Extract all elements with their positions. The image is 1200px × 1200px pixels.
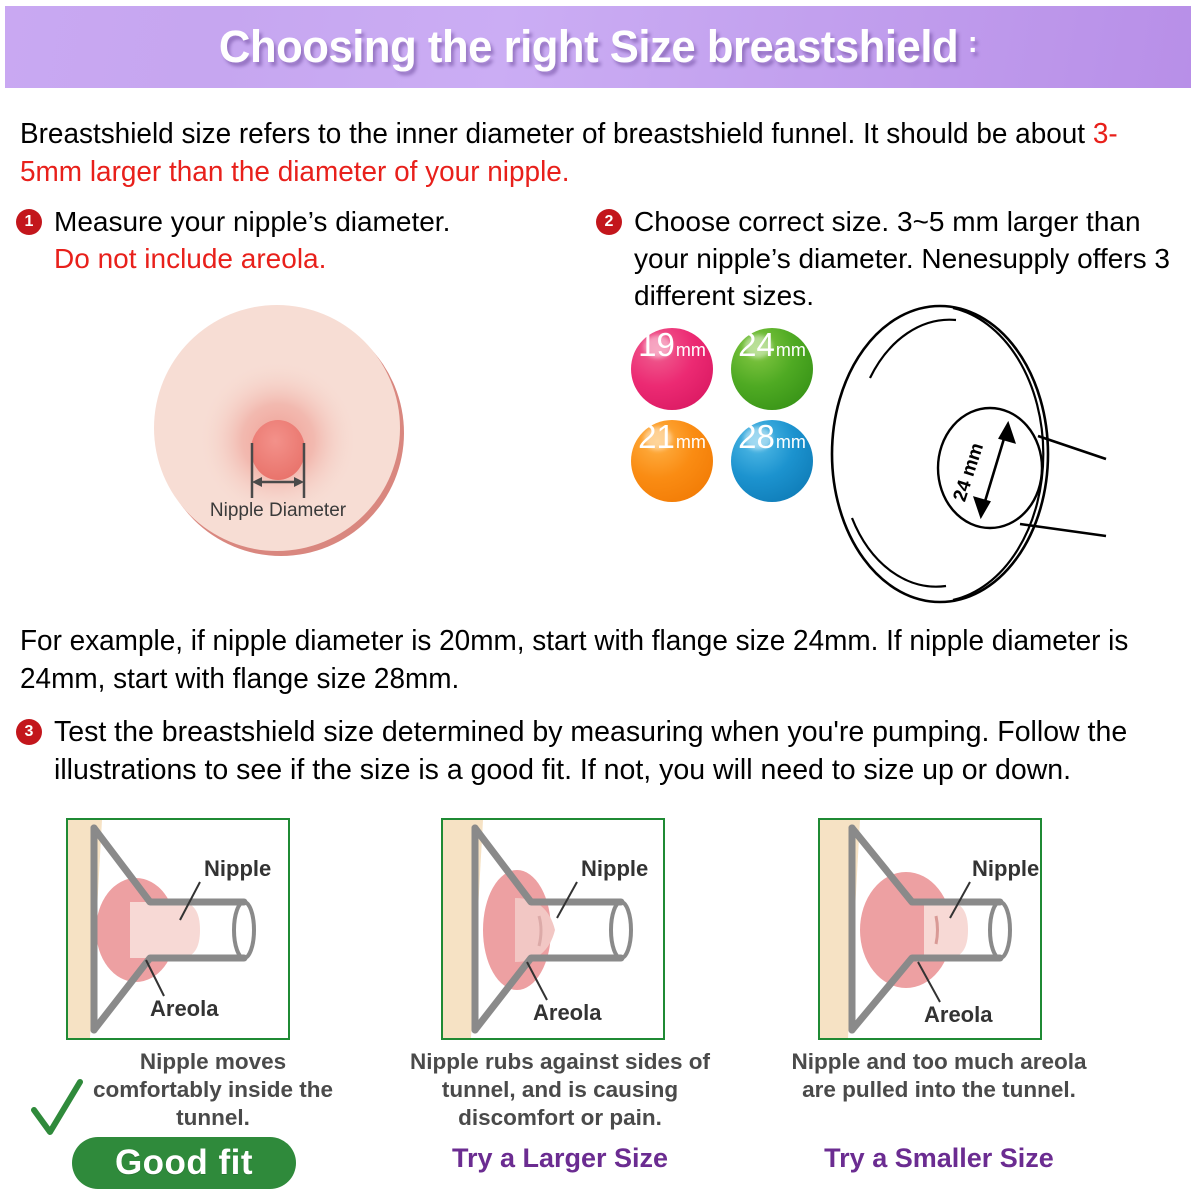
example-paragraph: For example, if nipple diameter is 20mm,… — [20, 622, 1165, 698]
step-3-number-wrap: 3 — [16, 713, 42, 745]
bubble-19-size: 19 — [638, 328, 675, 361]
infographic-page: Choosing the right Size breastshield: Br… — [0, 0, 1200, 1200]
step-3: 3 Test the breastshield size determined … — [16, 713, 1191, 789]
status-badge-good-fit: Good fit — [72, 1137, 296, 1189]
check-icon — [30, 1078, 84, 1138]
bubble-21-size: 21 — [638, 420, 675, 453]
step-1-number-wrap: 1 — [16, 203, 42, 235]
breast-diagram: Nipple Diameter — [128, 300, 448, 560]
funnel-tunnel-opening — [938, 408, 1042, 528]
panel-good-fit-svg: Nipple Areola — [68, 820, 288, 1038]
bubble-21-unit: mm — [676, 433, 706, 451]
intro-line-2: about — [1015, 118, 1093, 150]
page-title-colon: : — [968, 26, 977, 60]
panel-2-label-nipple: Nipple — [581, 856, 648, 881]
size-bubble-21mm[interactable]: 21mm — [631, 420, 713, 502]
verdict-try-smaller: Try a Smaller Size — [778, 1143, 1100, 1174]
panel-good-fit: Nipple Areola — [66, 818, 290, 1040]
step-1: 1 Measure your nipple’s diameter. Do not… — [16, 203, 571, 277]
bubble-28-unit: mm — [776, 433, 806, 451]
good-fit-label: Good fit — [115, 1143, 253, 1183]
check-icon-svg — [30, 1078, 84, 1138]
bubble-28-size: 28 — [738, 420, 775, 453]
funnel-svg: 24 mm — [828, 296, 1200, 614]
size-bubble-group: 19mm 24mm 21mm 28mm — [625, 328, 825, 508]
tunnel-opening-1 — [234, 902, 254, 958]
panel-too-small-svg: Nipple Areola — [443, 820, 663, 1038]
panel-2-label-areola: Areola — [533, 1000, 602, 1025]
step-2-number-wrap: 2 — [596, 203, 622, 235]
panel-3-label-nipple: Nipple — [972, 856, 1039, 881]
fit-illustration-panels: Nipple Areola Nipple Areola — [0, 818, 1200, 1048]
step-2-number: 2 — [596, 209, 622, 235]
caption-too-small: Nipple rubs against sides of tunnel, and… — [405, 1048, 715, 1132]
funnel-highlight-arc-bottom — [852, 518, 946, 587]
header-band: Choosing the right Size breastshield: — [5, 6, 1191, 88]
bubble-24-unit: mm — [776, 341, 806, 359]
tunnel-opening-2 — [611, 902, 631, 958]
nipple-shape-2 — [515, 898, 555, 962]
panel-1-label-areola: Areola — [150, 996, 219, 1021]
intro-line-1: Breastshield size refers to the inner di… — [20, 118, 1007, 150]
verdict-try-larger: Try a Larger Size — [405, 1143, 715, 1174]
intro-paragraph: Breastshield size refers to the inner di… — [20, 115, 1162, 191]
nipple-shape — [251, 420, 305, 480]
nipple-crease-3 — [936, 916, 938, 944]
panel-too-large-svg: Nipple Areola — [820, 820, 1040, 1038]
size-bubble-28mm[interactable]: 28mm — [731, 420, 813, 502]
panel-too-large: Nipple Areola — [818, 818, 1042, 1040]
nipple-diameter-label: Nipple Diameter — [210, 500, 347, 521]
step-1-text-black: Measure your nipple’s diameter. — [54, 206, 450, 237]
panel-1-label-nipple: Nipple — [204, 856, 271, 881]
funnel-inner-diameter-label: 24 mm — [949, 440, 988, 504]
nipple-shape-1 — [130, 902, 200, 958]
size-bubble-24mm[interactable]: 24mm — [731, 328, 813, 410]
step-3-text: Test the breastshield size determined by… — [54, 713, 1191, 789]
page-title-text: Choosing the right Size breastshield — [219, 21, 958, 73]
bubble-19-unit: mm — [676, 341, 706, 359]
page-title: Choosing the right Size breastshield: — [23, 6, 1173, 88]
step-1-number: 1 — [16, 209, 42, 235]
step-3-number: 3 — [16, 719, 42, 745]
nipple-shape-3 — [924, 902, 968, 958]
step-1-text-red: Do not include areola. — [54, 243, 326, 274]
breastshield-funnel-diagram: 24 mm — [828, 296, 1200, 614]
caption-too-large: Nipple and too much areola are pulled in… — [778, 1048, 1100, 1104]
caption-good-fit: Nipple moves comfortably inside the tunn… — [88, 1048, 338, 1132]
tunnel-opening-3 — [990, 902, 1010, 958]
bubble-24-size: 24 — [738, 328, 775, 361]
panel-too-small: Nipple Areola — [441, 818, 665, 1040]
funnel-dimension-arrow — [975, 424, 1014, 516]
size-bubble-19mm[interactable]: 19mm — [631, 328, 713, 410]
check-path — [34, 1082, 80, 1132]
breast-diagram-svg: Nipple Diameter — [128, 300, 448, 560]
panel-3-label-areola: Areola — [924, 1002, 993, 1027]
step-1-text: Measure your nipple’s diameter. Do not i… — [54, 203, 450, 277]
